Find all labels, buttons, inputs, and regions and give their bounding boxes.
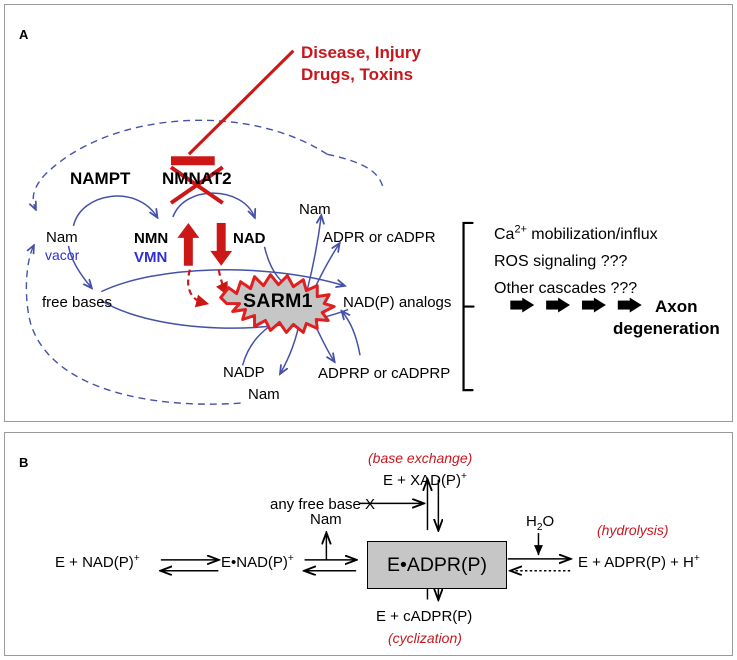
water-label-h: H [526,513,537,530]
metabolite-nad: NAD [233,231,266,248]
substrate-species-charge: + [134,553,140,564]
metabolite-nadp: NADP [223,365,265,382]
center-species-box: E•ADPR(P) [367,541,507,589]
cascade-arrow-3 [582,298,606,313]
outcome-calcium-suffix: mobilization/influx [527,226,658,243]
complex-species: E•NAD(P)+ [221,555,294,572]
cascade-arrow-4 [618,298,642,313]
substrate-species: E + NAD(P)+ [55,555,140,572]
stimulus-connector-line [189,51,293,155]
water-label: H2O [526,514,554,531]
product-hydrolysis: E + ADPR(P) + H+ [578,555,700,572]
metabolite-nam-top: Nam [299,202,331,219]
metabolite-vacor: vacor [45,248,79,264]
center-species-label: E•ADPR(P) [387,554,487,577]
complex-species-text: E•NAD(P) [221,554,288,571]
product-base-exchange-text: E + XAD(P) [383,472,461,489]
outcome-other-cascades: Other cascades ??? [494,280,637,298]
panel-a-letter: A [19,27,29,42]
dashed-recycle-loops [26,120,384,404]
outcome-ros: ROS signaling ??? [494,253,627,271]
annotation-hydrolysis: (hydrolysis) [597,523,669,539]
outcome-calcium: Ca2+ mobilization/influx [494,226,658,244]
figure-root: A [0,0,737,660]
panel-b: B [4,432,733,656]
product-hydrolysis-charge: + [694,553,700,564]
enzyme-label-nampt: NAMPT [70,169,130,188]
nam-release-label: Nam [310,512,342,529]
annotation-cyclization: (cyclization) [388,631,462,647]
annotation-base-exchange: (base exchange) [368,451,472,467]
product-base-exchange-charge: + [461,471,467,482]
cascade-arrow-2 [546,298,570,313]
outcome-result-line2: degeneration [613,319,720,338]
product-base-exchange: E + XAD(P)+ [383,473,467,490]
product-hydrolysis-text: E + ADPR(P) + H [578,554,694,571]
trend-arrows [177,223,232,266]
nad-decrease-arrow [210,223,232,266]
outcome-calcium-prefix: Ca [494,226,514,243]
hydrolysis-arrows [508,533,570,571]
metabolite-vmn: VMN [134,250,167,267]
substrate-species-text: E + NAD(P) [55,554,134,571]
stimulus-label-line2: Drugs, Toxins [301,65,413,84]
metabolite-free-bases: free bases [42,295,112,312]
cascade-arrow-1 [510,298,534,313]
product-adpr-cadpr: ADPR or cADPR [323,230,436,247]
enzyme-label-nmnat2: NMNAT2 [162,169,232,188]
product-cyclization: E + cADPR(P) [376,609,472,626]
stimulus-label-line1: Disease, Injury [301,43,421,62]
metabolite-nam-bottom: Nam [248,387,280,404]
product-adprp-cadprp: ADPRP or cADPRP [318,366,450,383]
outcomes-bracket [464,223,474,390]
sarm1-activation-arrows [188,270,225,303]
metabolite-nmn: NMN [134,231,168,248]
product-nadp-analogs: NAD(P) analogs [343,295,451,312]
nmn-increase-arrow [177,223,199,266]
water-label-o: O [543,513,555,530]
inhibition-bar [171,156,215,165]
equilibrium-arrows-1 [161,560,218,571]
metabolite-nam-left: Nam [46,230,78,247]
panel-b-letter: B [19,455,29,470]
complex-species-charge: + [288,553,294,564]
panel-a: A [4,4,733,422]
outcome-result-line1: Axon [655,297,698,316]
cascade-block-arrows [510,298,641,313]
equilibrium-arrows-2 [305,533,357,571]
outcome-calcium-charge: 2+ [514,224,526,236]
sarm1-label: SARM1 [243,291,313,313]
